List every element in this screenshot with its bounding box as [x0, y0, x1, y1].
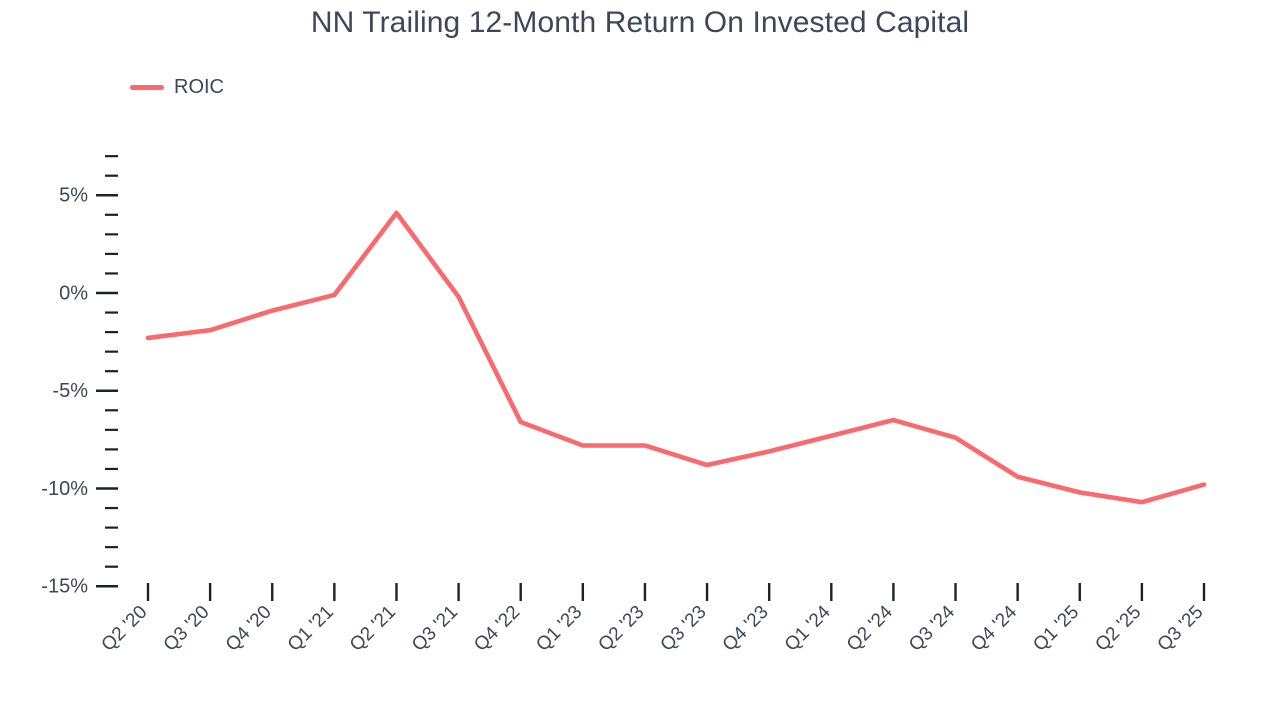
- y-axis-tick-label: 0%: [59, 282, 88, 304]
- x-axis-tick-label: Q2 '23: [594, 602, 648, 656]
- y-axis-tick-label: -5%: [52, 380, 88, 402]
- x-axis-tick-label: Q2 '21: [346, 602, 400, 656]
- x-axis-tick-label: Q3 '23: [657, 602, 711, 656]
- x-axis-tick-label: Q1 '23: [532, 602, 586, 656]
- x-axis-tick-label: Q3 '21: [408, 602, 462, 656]
- y-axis-tick-label: -15%: [41, 576, 88, 598]
- y-axis-tick-label: 5%: [59, 185, 88, 207]
- chart-plot-area: -15%-10%-5%0%5% Q2 '20Q3 '20Q4 '20Q1 '21…: [0, 0, 1280, 720]
- x-axis-tick-label: Q2 '24: [843, 601, 897, 655]
- y-axis-tick-label: -10%: [41, 478, 88, 500]
- x-axis-tick-label: Q4 '24: [967, 601, 1021, 655]
- x-axis-tick-label: Q3 '20: [160, 602, 214, 656]
- series-group: [148, 213, 1204, 502]
- chart-container: NN Trailing 12-Month Return On Invested …: [0, 0, 1280, 720]
- series-line-roic: [148, 213, 1204, 502]
- x-axis-tick-label: Q3 '24: [905, 601, 959, 655]
- x-axis-tick-label: Q4 '23: [719, 602, 773, 656]
- x-axis-tick-label: Q1 '24: [781, 601, 835, 655]
- x-axis: Q2 '20Q3 '20Q4 '20Q1 '21Q2 '21Q3 '21Q4 '…: [98, 583, 1208, 656]
- x-axis-tick-label: Q2 '20: [98, 602, 152, 656]
- y-axis: -15%-10%-5%0%5%: [41, 156, 118, 597]
- x-axis-tick-label: Q2 '25: [1091, 602, 1145, 656]
- x-axis-tick-label: Q3 '25: [1154, 602, 1208, 656]
- x-axis-tick-label: Q4 '22: [470, 602, 524, 656]
- x-axis-tick-label: Q4 '20: [222, 602, 276, 656]
- x-axis-tick-label: Q1 '21: [284, 602, 338, 656]
- x-axis-tick-label: Q1 '25: [1029, 602, 1083, 656]
